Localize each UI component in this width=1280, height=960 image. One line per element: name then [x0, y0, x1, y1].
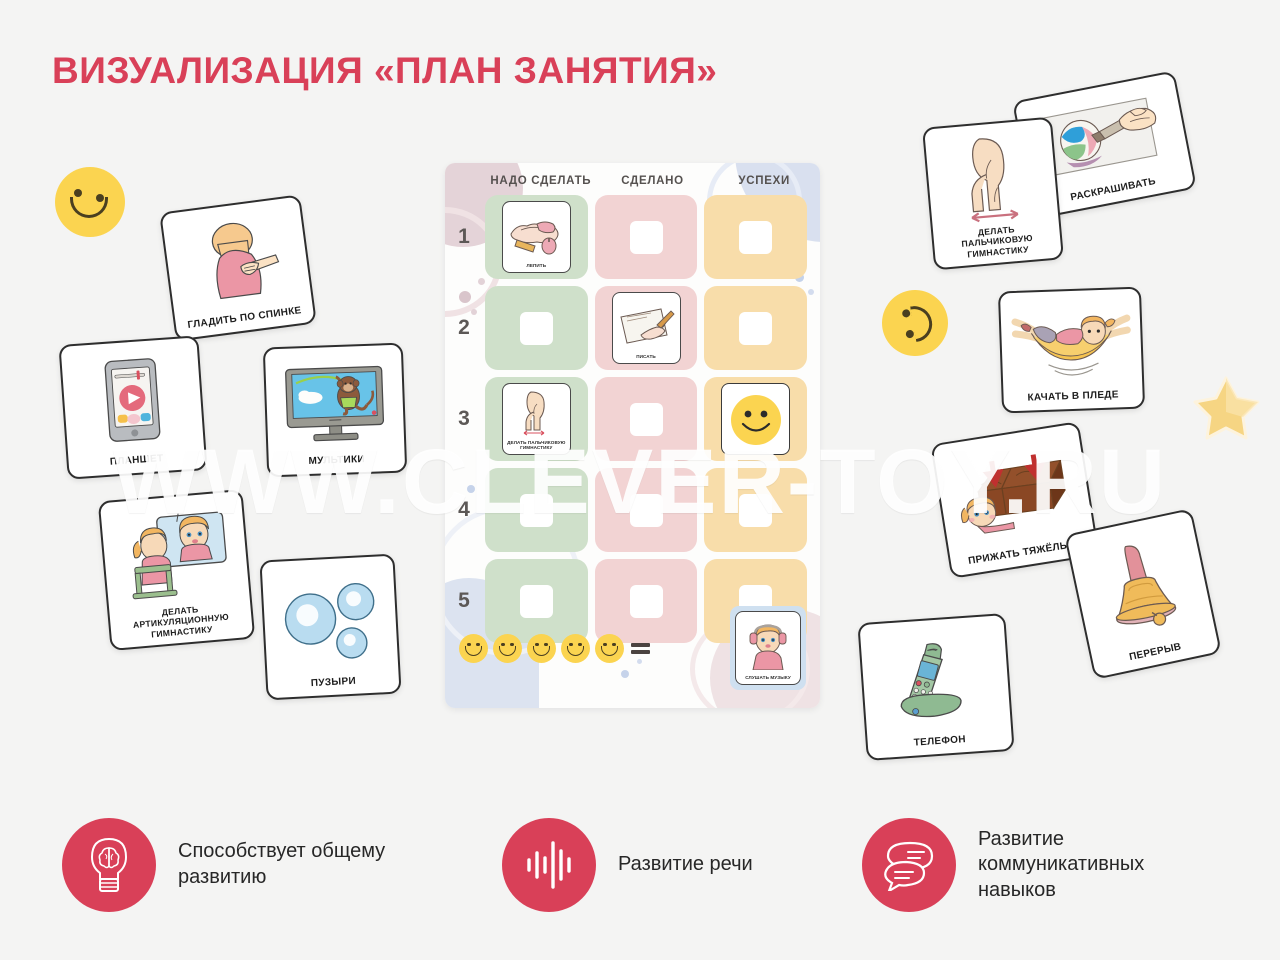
benefit-text: Способствует общему развитию: [178, 839, 408, 890]
empty-slot[interactable]: [520, 494, 553, 527]
row-number: 4: [451, 468, 477, 552]
card-tablet[interactable]: ПЛАНШЕТ: [58, 335, 207, 479]
cell-success-4[interactable]: [704, 468, 807, 552]
benefit-text: Развитие коммуникативных навыков: [978, 827, 1208, 904]
card-break[interactable]: ПЕРЕРЫВ: [1064, 508, 1222, 680]
tablet-illustration: [67, 346, 198, 456]
listen-music-illustration: [738, 615, 798, 675]
reward-slot[interactable]: СЛУШАТЬ МУЗЫКУ: [730, 606, 806, 690]
empty-slot[interactable]: [739, 221, 772, 254]
board-row: 1 ЛЕПИТЬ: [485, 195, 807, 279]
benefit-speech-development: Развитие речи: [502, 818, 862, 912]
benefit-communication-skills: Развитие коммуникативных навыков: [862, 818, 1262, 912]
finger-gym-illustration: [505, 387, 568, 440]
poster-root: ВИЗУАЛИЗАЦИЯ «ПЛАН ЗАНЯТИЯ» ГЛАДИТЬ ПО С…: [0, 0, 1280, 960]
reward-smiley: [595, 634, 624, 663]
reward-smiley: [561, 634, 590, 663]
benefit-general-development: Способствует общему развитию: [62, 818, 502, 912]
empty-slot[interactable]: [739, 312, 772, 345]
bell-illustration: [1074, 520, 1209, 656]
decorative-smiley-right: [877, 285, 953, 361]
column-header-todo: НАДО СДЕЛАТЬ: [485, 175, 597, 187]
empty-slot[interactable]: [739, 494, 772, 527]
row-number: 3: [451, 377, 477, 461]
card-cartoons[interactable]: МУЛЬТИКИ: [263, 343, 407, 478]
minicard-finger-gym[interactable]: ДЕЛАТЬ ПАЛЬЧИКОВУЮ ГИМНАСТИКУ: [502, 383, 571, 455]
minicard-smiley-reward[interactable]: [721, 383, 790, 455]
cell-success-3[interactable]: [704, 377, 807, 461]
decor-dot: [478, 278, 485, 285]
reward-row: СЛУШАТЬ МУЗЫКУ: [445, 606, 820, 690]
equals-sign-icon: [631, 643, 650, 654]
minicard-label: ПИСАТЬ: [636, 354, 656, 361]
board-grid: 1 ЛЕПИТЬ: [485, 195, 807, 650]
lightbulb-brain-icon: [83, 836, 135, 894]
reward-smiley: [493, 634, 522, 663]
cell-todo-3[interactable]: ДЕЛАТЬ ПАЛЬЧИКОВУЮ ГИМНАСТИКУ: [485, 377, 588, 461]
card-label: ПЛАНШЕТ: [107, 450, 166, 471]
cell-todo-2[interactable]: [485, 286, 588, 370]
minicard-label: СЛУШАТЬ МУЗЫКУ: [745, 675, 791, 682]
board-column-headers: НАДО СДЕЛАТЬ СДЕЛАНО УСПЕХИ: [445, 175, 820, 187]
column-header-done: СДЕЛАНО: [597, 175, 709, 187]
benefit-icon-circle: [62, 818, 156, 912]
row-number: 2: [451, 286, 477, 370]
benefit-icon-circle: [502, 818, 596, 912]
cell-done-2[interactable]: ПИСАТЬ: [595, 286, 698, 370]
card-label: КАЧАТЬ В ПЛЕДЕ: [1025, 386, 1121, 406]
row-number: 1: [451, 195, 477, 279]
minicard-listen-music[interactable]: СЛУШАТЬ МУЗЫКУ: [735, 611, 801, 685]
empty-slot[interactable]: [630, 403, 663, 436]
swing-blanket-illustration: [1006, 297, 1136, 390]
finger-gym-illustration: [931, 127, 1053, 228]
cell-done-1[interactable]: [595, 195, 698, 279]
cell-success-2[interactable]: [704, 286, 807, 370]
smiley-face-icon: [729, 393, 783, 447]
decorative-star: [1190, 372, 1262, 449]
benefit-text: Развитие речи: [618, 852, 753, 878]
benefit-icon-circle: [862, 818, 956, 912]
reward-smiley: [527, 634, 556, 663]
card-articulation[interactable]: ДЕЛАТЬ АРТИКУЛЯЦИОННУЮ ГИМНАСТИКУ: [98, 489, 256, 651]
column-header-success: УСПЕХИ: [708, 175, 820, 187]
cell-done-4[interactable]: [595, 468, 698, 552]
cell-done-3[interactable]: [595, 377, 698, 461]
soundwave-icon: [521, 837, 577, 893]
articulation-illustration: [107, 500, 244, 609]
card-label: МУЛЬТИКИ: [306, 451, 367, 470]
minicard-modeling[interactable]: ЛЕПИТЬ: [502, 201, 571, 273]
card-bubbles[interactable]: ПУЗЫРИ: [259, 554, 401, 701]
writing-illustration: [615, 296, 678, 354]
activity-plan-board: НАДО СДЕЛАТЬ СДЕЛАНО УСПЕХИ 1: [445, 163, 820, 708]
bubbles-illustration: [268, 564, 392, 677]
phone-illustration: [866, 624, 1005, 738]
empty-slot[interactable]: [520, 312, 553, 345]
cartoons-illustration: [271, 353, 398, 454]
card-phone[interactable]: ТЕЛЕФОН: [857, 613, 1014, 761]
card-label: ПУЗЫРИ: [308, 673, 358, 693]
minicard-writing[interactable]: ПИСАТЬ: [612, 292, 681, 364]
card-finger-gym[interactable]: ДЕЛАТЬ ПАЛЬЧИКОВУЮ ГИМНАСТИКУ: [922, 117, 1064, 271]
back-rub-illustration: [168, 205, 306, 318]
card-swing-blanket[interactable]: КАЧАТЬ В ПЛЕДЕ: [998, 287, 1145, 414]
board-row: 2 ПИСАТЬ: [485, 286, 807, 370]
board-row: 4: [485, 468, 807, 552]
minicard-label: ЛЕПИТЬ: [527, 263, 547, 270]
modeling-illustration: [505, 205, 568, 263]
cell-todo-4[interactable]: [485, 468, 588, 552]
page-title: ВИЗУАЛИЗАЦИЯ «ПЛАН ЗАНЯТИЯ»: [52, 50, 717, 92]
speech-bubbles-icon: [880, 839, 938, 891]
minicard-label: ДЕЛАТЬ ПАЛЬЧИКОВУЮ ГИМНАСТИКУ: [505, 440, 568, 452]
cell-success-1[interactable]: [704, 195, 807, 279]
empty-slot[interactable]: [630, 494, 663, 527]
reward-smiley-row: [459, 634, 624, 663]
cell-todo-1[interactable]: ЛЕПИТЬ: [485, 195, 588, 279]
benefits-row: Способствует общему развитию Развитие ре…: [0, 818, 1280, 912]
decor-dot: [808, 289, 814, 295]
card-label: ТЕЛЕФОН: [911, 731, 968, 752]
board-row: 3 ДЕЛАТЬ ПАЛЬЧИКОВУЮ ГИМНАС: [485, 377, 807, 461]
decorative-smiley-left: [55, 167, 125, 237]
card-back-rub[interactable]: ГЛАДИТЬ ПО СПИНКЕ: [159, 194, 317, 341]
reward-smiley: [459, 634, 488, 663]
empty-slot[interactable]: [630, 221, 663, 254]
